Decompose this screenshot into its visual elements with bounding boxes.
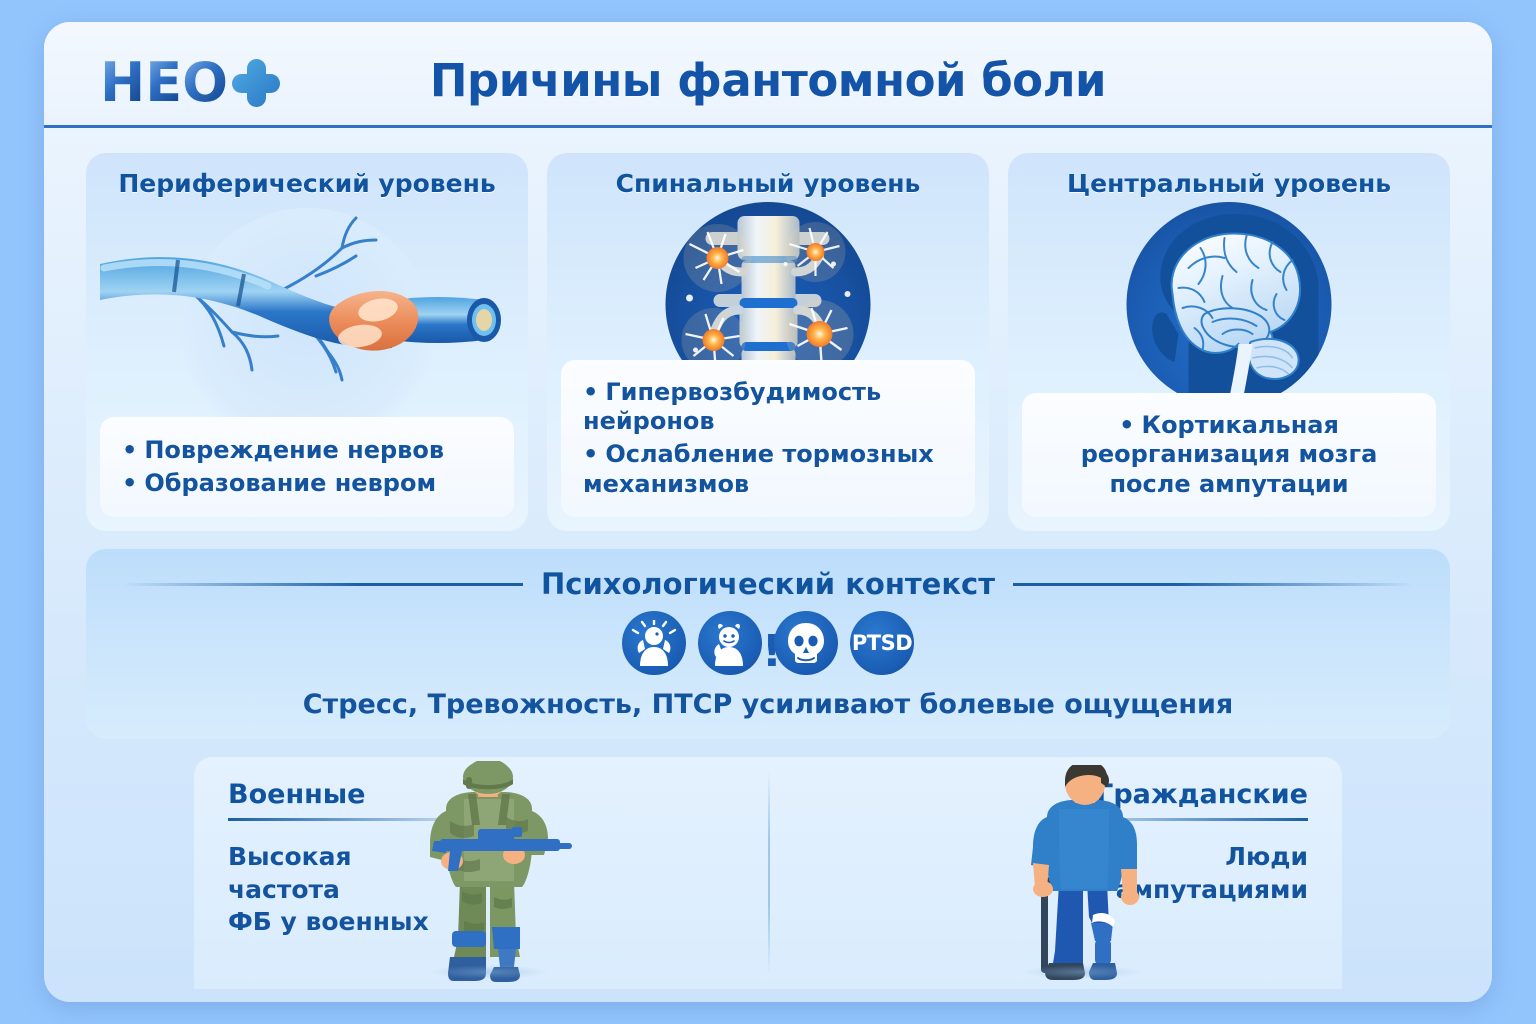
list-item-text: Образование невром [144,469,436,497]
divider-left [122,583,523,586]
ptsd-badge-icon: PTSD [850,611,914,675]
card-bullet-list: •Гипервозбудимость нейронов •Ослабление … [561,360,975,517]
psychological-icons-row: PTSD [86,611,1450,675]
card-title: Периферический уровень [86,169,528,198]
bullet-dot: • [122,469,137,497]
compare-half-civilian: Гражданские Люди с ампутациями [768,757,1342,989]
damaged-nerve-illustration [86,202,528,392]
soldier-figure [394,761,584,983]
card-central-level: Центральный уровень [1008,153,1450,531]
figure-shadow [1022,965,1142,979]
card-bullet-list: •Повреждение нервов •Образование невром [100,417,514,517]
figure-shadow [429,965,549,979]
compare-half-military: Военные Высокая частота ФБ у военных [194,757,768,989]
list-item: •Образование невром [122,469,500,498]
stressed-person-icon [622,611,686,675]
compare-section: Военные Высокая частота ФБ у военных [194,757,1342,989]
section-title: Психологический контекст [541,567,995,601]
bullet-dot: • [583,378,598,406]
psychological-context-section: Психологический контекст [86,549,1450,739]
ptsd-badge-label: PTSD [852,631,912,655]
psychological-context-header: Психологический контекст [86,549,1450,601]
list-item-text: Повреждение нервов [144,436,444,464]
list-item-text: Гипервозбудимость нейронов [583,378,881,435]
card-peripheral-level: Периферический уровень [86,153,528,531]
divider-right [1013,583,1414,586]
anxious-person-exclamation-icon [698,611,762,675]
card-spinal-level: Спинальный уровень [547,153,989,531]
psychological-context-caption: Стресс, Тревожность, ПТСР усиливают боле… [86,689,1450,720]
list-item: •Кортикальная реорганизация мозга после … [1036,411,1422,499]
civilian-figure [997,765,1167,983]
bullet-dot: • [583,440,598,468]
list-item: •Повреждение нервов [122,436,500,465]
page-title: Причины фантомной боли [44,54,1492,107]
bullet-dot: • [122,436,137,464]
list-item: •Гипервозбудимость нейронов [583,378,961,437]
brain-in-head-illustration [1008,202,1450,392]
card-title: Центральный уровень [1008,169,1450,198]
card-bullet-list: •Кортикальная реорганизация мозга после … [1022,393,1436,517]
list-item: •Ослабление тормозных механизмов [583,440,961,499]
levels-row: Периферический уровень [44,128,1492,531]
list-item-text: Ослабление тормозных механизмов [583,440,934,497]
card-title: Спинальный уровень [547,169,989,198]
skull-icon [774,611,838,675]
infographic-poster: H E O Причины фантомной боли Периферичес… [44,22,1492,1002]
bullet-dot: • [1119,411,1134,439]
poster-header: H E O Причины фантомной боли [44,22,1492,128]
